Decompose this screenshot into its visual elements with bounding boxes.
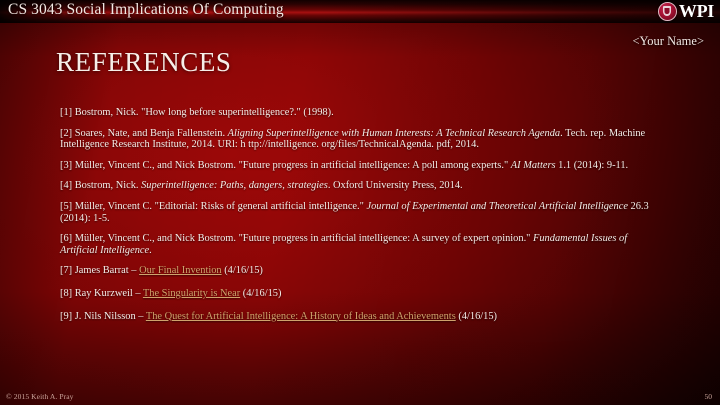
reference-link[interactable]: The Singularity is Near: [143, 288, 240, 299]
reference-text: Ray Kurzweil –: [72, 288, 143, 299]
reference-item: [1] Bostrom, Nick. "How long before supe…: [60, 107, 660, 119]
reference-text: . Oxford University Press, 2014.: [328, 180, 463, 191]
footer-copyright: © 2015 Keith A. Pray: [6, 392, 74, 401]
reference-marker: [3]: [60, 160, 72, 171]
reference-item: [4] Bostrom, Nick. Superintelligence: Pa…: [60, 180, 660, 192]
reference-title-italic: Aligning Superintelligence with Human In…: [228, 128, 560, 139]
presentation-slide: CS 3043 Social Implications Of Computing…: [0, 0, 720, 405]
reference-marker: [2]: [60, 128, 72, 139]
reference-item: [2] Soares, Nate, and Benja Fallenstein.…: [60, 128, 660, 151]
wpi-logo: WPI: [658, 1, 714, 22]
reference-item: [7] James Barrat – Our Final Invention (…: [60, 265, 660, 277]
reference-item: [9] J. Nils Nilsson – The Quest for Arti…: [60, 311, 660, 323]
reference-text: (4/16/15): [222, 265, 263, 276]
references-list: [1] Bostrom, Nick. "How long before supe…: [60, 107, 660, 333]
reference-text: 1.1 (2014): 9-11.: [556, 160, 629, 171]
reference-text: Bostrom, Nick. "How long before superint…: [72, 107, 334, 118]
reference-marker: [1]: [60, 107, 72, 118]
reference-text: Müller, Vincent C. "Editorial: Risks of …: [72, 201, 366, 212]
reference-item: [6] Müller, Vincent C., and Nick Bostrom…: [60, 233, 660, 256]
reference-link[interactable]: The Quest for Artificial Intelligence: A…: [146, 311, 456, 322]
reference-title-italic: AI Matters: [511, 160, 556, 171]
wpi-seal-icon: [658, 2, 677, 21]
reference-text: Soares, Nate, and Benja Fallenstein.: [72, 128, 228, 139]
reference-title-italic: Superintelligence: Paths, dangers, strat…: [141, 180, 328, 191]
reference-text: Bostrom, Nick.: [72, 180, 141, 191]
presenter-name-placeholder: <Your Name>: [632, 34, 704, 49]
slide-number: 50: [705, 392, 713, 401]
reference-text: Müller, Vincent C., and Nick Bostrom. "F…: [72, 233, 533, 244]
reference-marker: [8]: [60, 288, 72, 299]
reference-marker: [6]: [60, 233, 72, 244]
reference-text: James Barrat –: [72, 265, 139, 276]
page-title: REFERENCES: [56, 47, 232, 78]
reference-item: [3] Müller, Vincent C., and Nick Bostrom…: [60, 160, 660, 172]
reference-marker: [7]: [60, 265, 72, 276]
reference-text: J. Nils Nilsson –: [72, 311, 146, 322]
reference-item: [5] Müller, Vincent C. "Editorial: Risks…: [60, 201, 660, 224]
reference-item: [8] Ray Kurzweil – The Singularity is Ne…: [60, 288, 660, 300]
reference-text: .: [149, 245, 152, 256]
course-title: CS 3043 Social Implications Of Computing: [8, 1, 284, 19]
reference-marker: [4]: [60, 180, 72, 191]
wpi-logo-text: WPI: [679, 2, 714, 21]
reference-text: (4/16/15): [240, 288, 281, 299]
reference-marker: [9]: [60, 311, 72, 322]
reference-title-italic: Journal of Experimental and Theoretical …: [366, 201, 627, 212]
reference-marker: [5]: [60, 201, 72, 212]
reference-text: Müller, Vincent C., and Nick Bostrom. "F…: [72, 160, 511, 171]
reference-text: (4/16/15): [456, 311, 497, 322]
reference-link[interactable]: Our Final Invention: [139, 265, 222, 276]
